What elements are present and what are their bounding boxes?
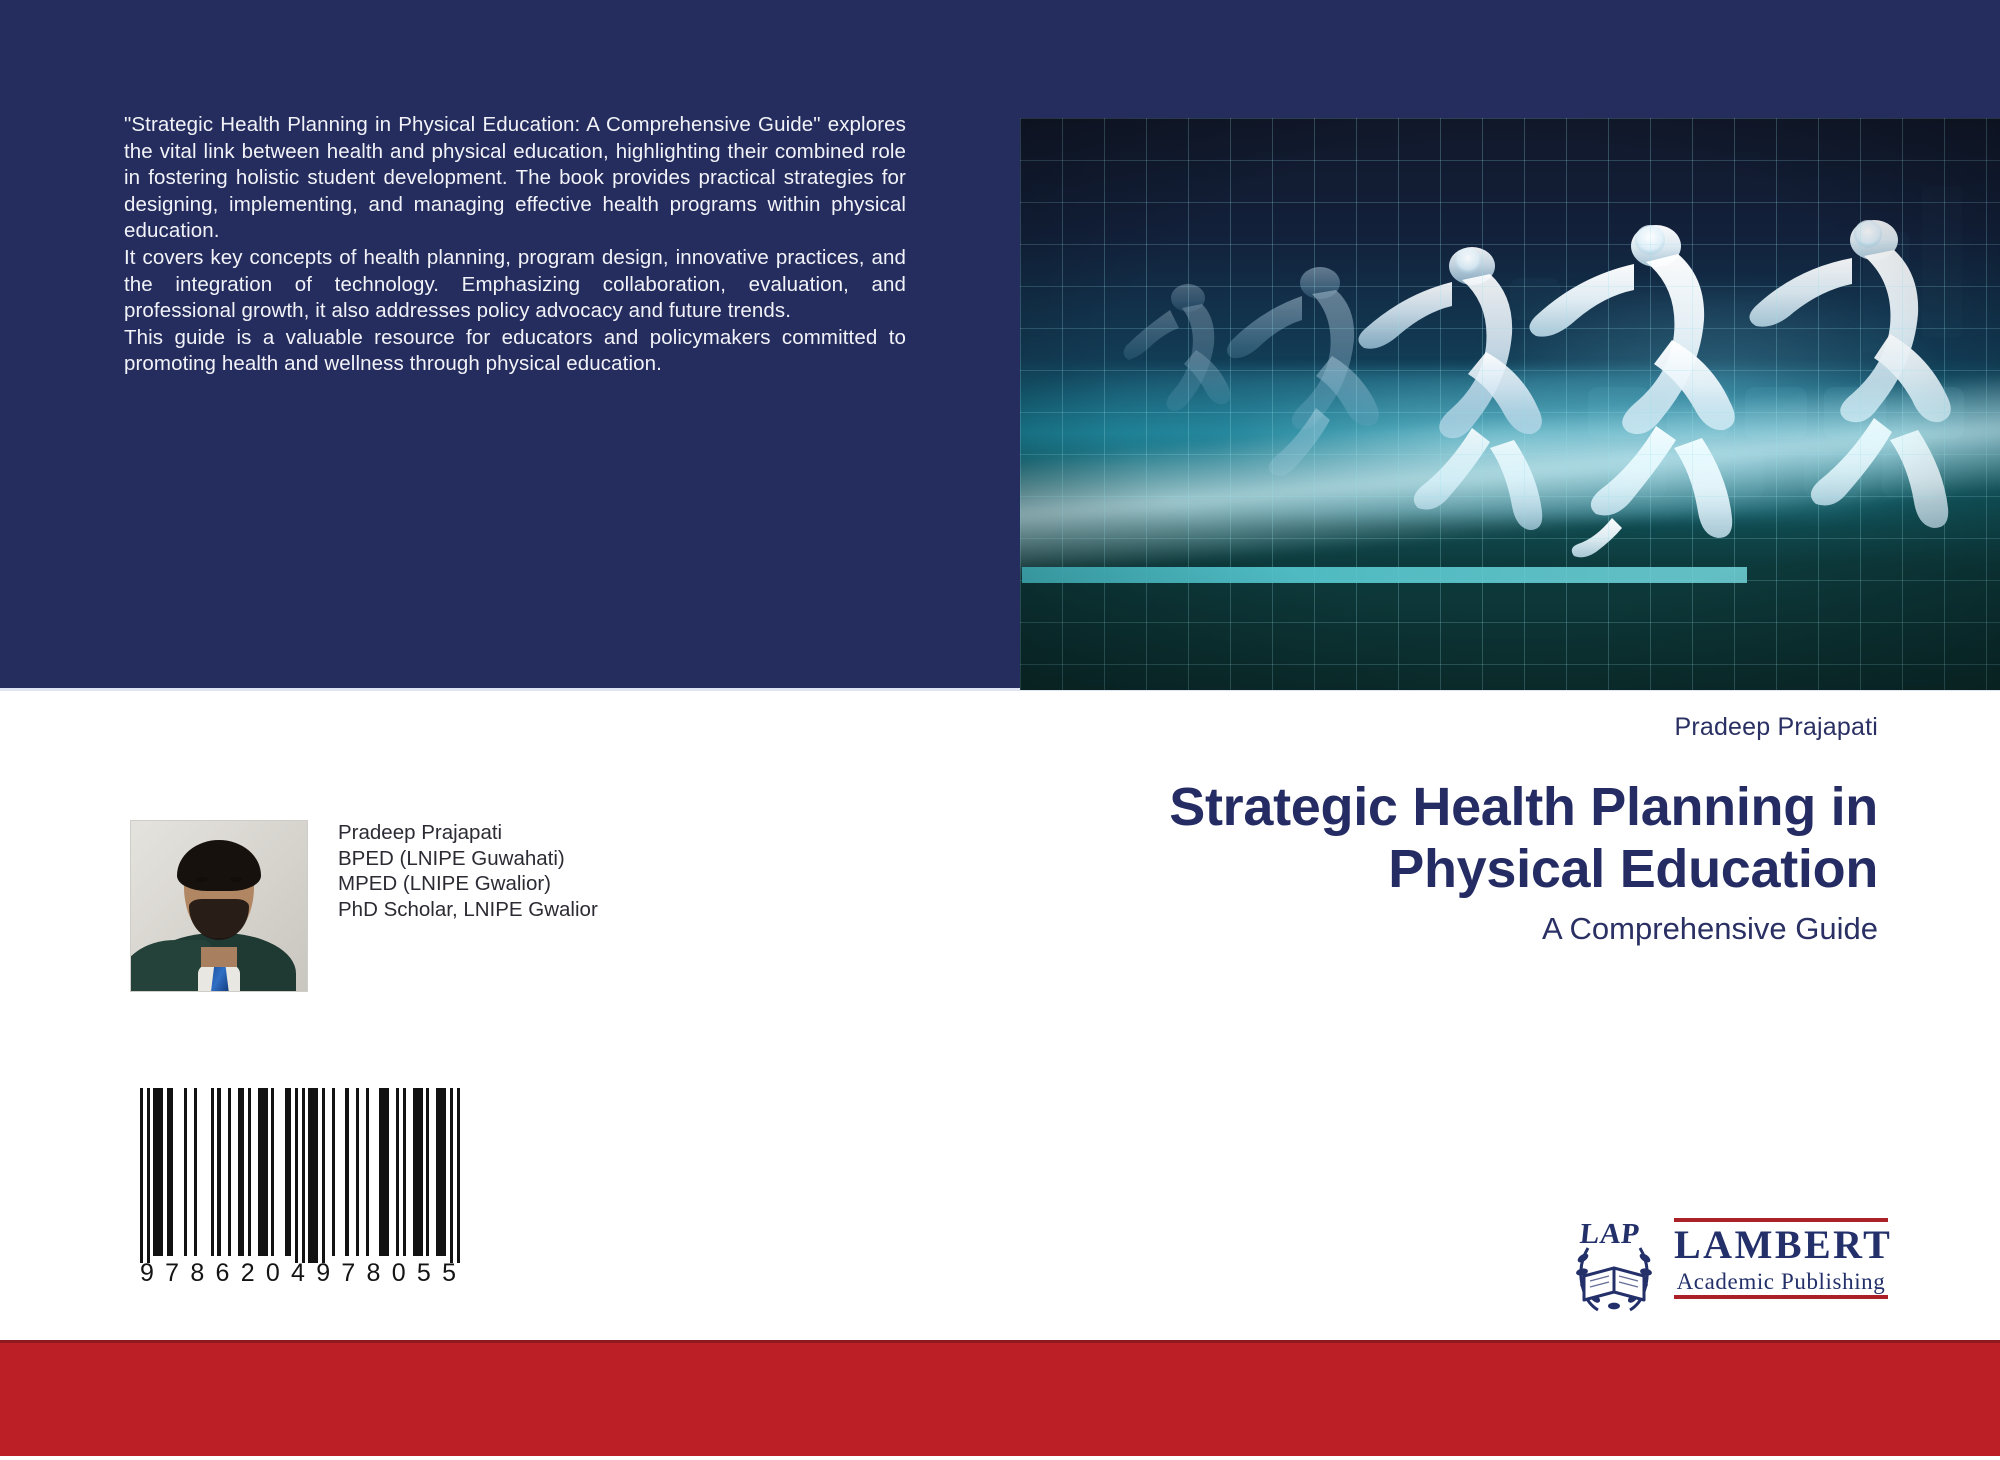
- barcode-digit: 8: [190, 1259, 204, 1288]
- barcode-digit: 9: [140, 1259, 154, 1288]
- barcode-digit: 2: [241, 1259, 255, 1288]
- barcode-digits: 9786204978055: [140, 1259, 460, 1288]
- blurb-paragraph-2: It covers key concepts of health plannin…: [124, 245, 906, 325]
- barcode-digit: 5: [442, 1259, 456, 1288]
- barcode-digit: 8: [367, 1259, 381, 1288]
- author-bio-line-1: Pradeep Prajapati: [338, 820, 598, 846]
- author-bio-line-4: PhD Scholar, LNIPE Gwalior: [338, 897, 598, 923]
- logo-lap-text: LAP: [1578, 1218, 1641, 1251]
- bottom-red-band: [0, 1343, 2000, 1456]
- barcode-digit: 6: [216, 1259, 230, 1288]
- publisher-name: LAMBERT: [1674, 1222, 1888, 1268]
- blurb-paragraph-1: "Strategic Health Planning in Physical E…: [124, 112, 906, 245]
- isbn-barcode: 9786204978055: [140, 1088, 460, 1288]
- barcode-digit: 0: [266, 1259, 280, 1288]
- photo-neck: [201, 947, 236, 967]
- barcode-digit: 9: [316, 1259, 330, 1288]
- publisher-logo: LAP LAMBERT Academic Publishing: [1566, 1214, 1888, 1322]
- barcode-bars: [140, 1088, 460, 1263]
- front-cover-author: Pradeep Prajapati: [1674, 713, 1878, 742]
- author-bio: Pradeep Prajapati BPED (LNIPE Guwahati) …: [338, 820, 598, 922]
- artwork-vignette: [1020, 118, 2000, 690]
- author-bio-line-2: BPED (LNIPE Guwahati): [338, 846, 598, 872]
- front-cover-subtitle: A Comprehensive Guide: [1542, 911, 1878, 947]
- logo-rule-bottom: [1674, 1295, 1888, 1299]
- barcode-digit: 0: [392, 1259, 406, 1288]
- logo-wordmark: LAMBERT Academic Publishing: [1674, 1218, 1888, 1299]
- barcode-digit: 7: [165, 1259, 179, 1288]
- page-bottom-edge: [0, 1456, 2000, 1460]
- cover-artwork-image: [1020, 118, 2000, 690]
- blurb-paragraph-3: This guide is a valuable resource for ed…: [124, 325, 906, 378]
- title-line-2: Physical Education: [818, 838, 1878, 900]
- barcode-digit: 4: [291, 1259, 305, 1288]
- author-photo: [130, 820, 308, 992]
- barcode-digit: 7: [341, 1259, 355, 1288]
- author-bio-line-3: MPED (LNIPE Gwalior): [338, 871, 598, 897]
- title-line-1: Strategic Health Planning in: [818, 776, 1878, 838]
- publisher-tagline: Academic Publishing: [1674, 1268, 1888, 1295]
- front-cover-title: Strategic Health Planning in Physical Ed…: [818, 776, 1878, 900]
- barcode-digit: 5: [417, 1259, 431, 1288]
- back-cover-blurb: "Strategic Health Planning in Physical E…: [124, 112, 906, 378]
